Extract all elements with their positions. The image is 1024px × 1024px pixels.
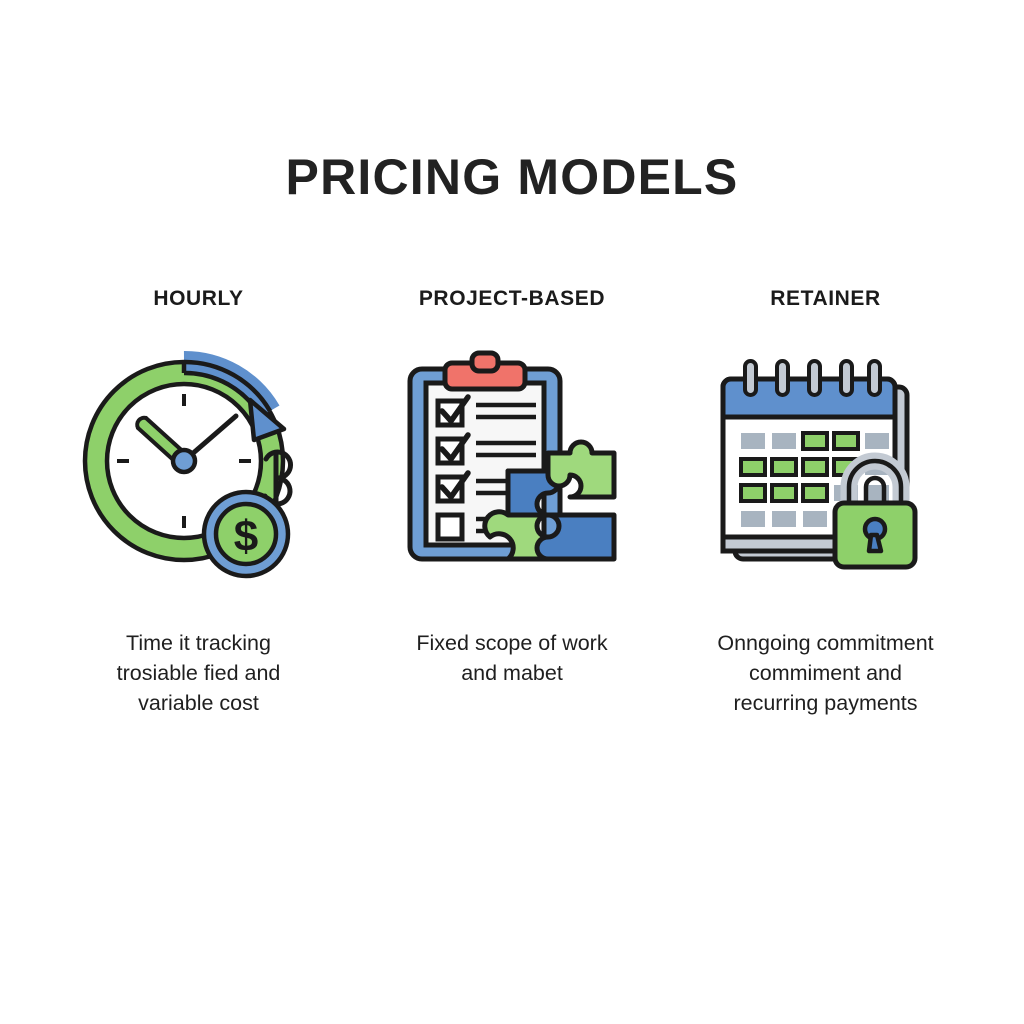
pricing-model-card-project-based[interactable]: PROJECT-BASED bbox=[356, 286, 669, 688]
column-heading-retainer: RETAINER bbox=[770, 286, 881, 312]
caption-line: Fixed scope of work bbox=[362, 628, 662, 658]
page-title: PRICING MODELS bbox=[0, 152, 1024, 202]
caption-line: variable cost bbox=[49, 688, 349, 718]
pricing-model-columns: HOURLY bbox=[42, 286, 982, 718]
column-heading-hourly: HOURLY bbox=[153, 286, 243, 312]
caption-line: and mabet bbox=[362, 658, 662, 688]
column-caption-hourly: Time it tracking trosiable fied and vari… bbox=[49, 628, 349, 718]
clipboard-puzzle-icon bbox=[392, 348, 632, 588]
calendar-lock-icon bbox=[706, 348, 946, 588]
infographic-canvas: PRICING MODELS HOURLY bbox=[0, 0, 1024, 1024]
caption-line: commiment and bbox=[676, 658, 976, 688]
caption-line: Time it tracking bbox=[49, 628, 349, 658]
caption-line: recurring payments bbox=[676, 688, 976, 718]
column-caption-project-based: Fixed scope of work and mabet bbox=[362, 628, 662, 688]
pricing-model-card-retainer[interactable]: RETAINER bbox=[669, 286, 982, 718]
caption-line: trosiable fied and bbox=[49, 658, 349, 688]
column-caption-retainer: Onngoing commitment commiment and recurr… bbox=[676, 628, 976, 718]
clock-dollar-icon: $ bbox=[79, 348, 319, 588]
caption-line: Onngoing commitment bbox=[676, 628, 976, 658]
pricing-model-card-hourly[interactable]: HOURLY bbox=[42, 286, 355, 718]
column-heading-project-based: PROJECT-BASED bbox=[419, 286, 605, 312]
svg-text:$: $ bbox=[233, 512, 257, 561]
